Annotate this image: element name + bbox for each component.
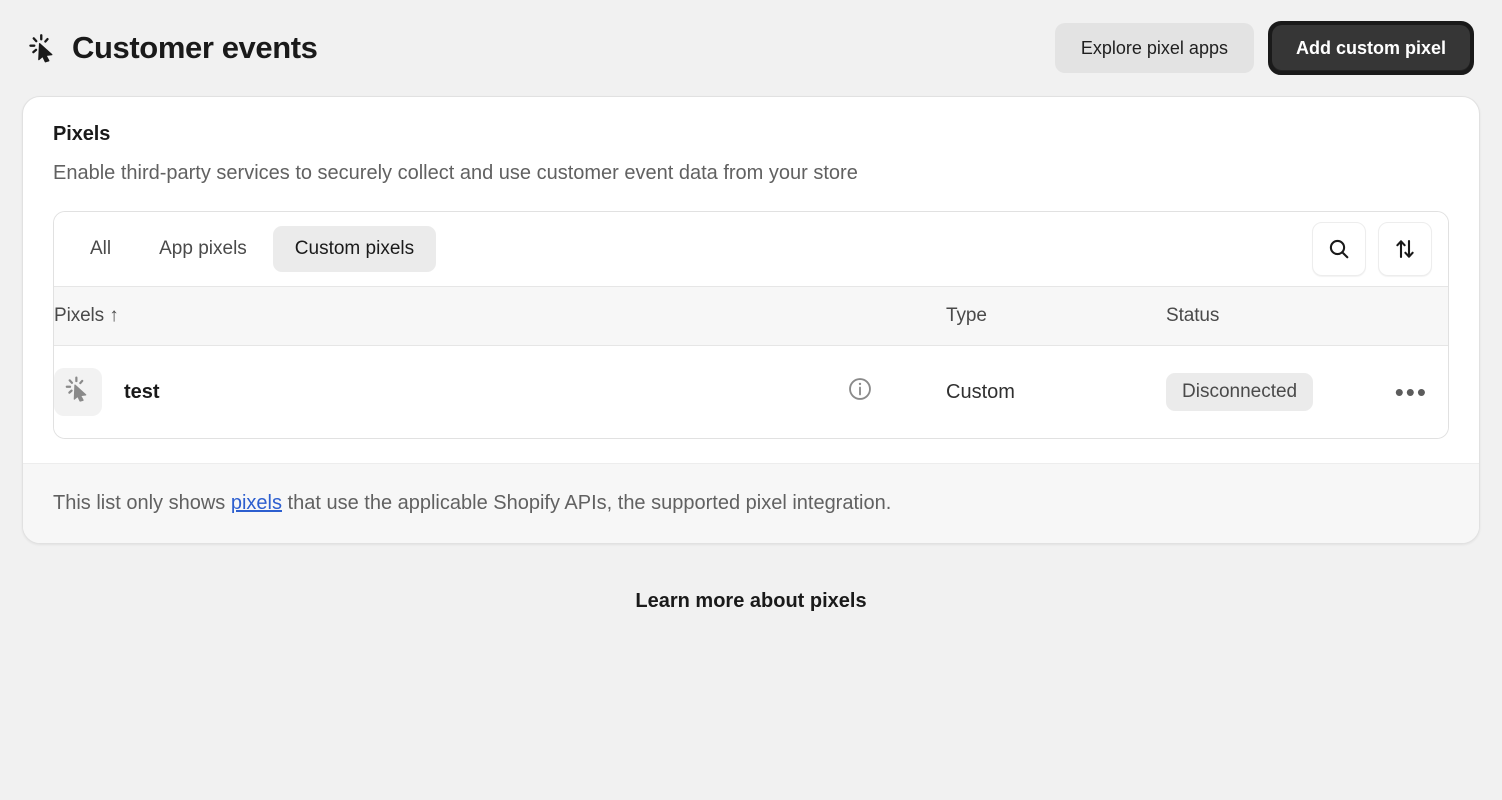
column-header-actions [1338,287,1448,346]
search-button[interactable] [1312,222,1366,276]
cursor-click-icon [64,375,92,409]
pixel-name-label: test [124,381,160,404]
row-actions-menu-button[interactable]: ••• [1395,379,1448,405]
tab-app-pixels[interactable]: App pixels [137,226,269,272]
pixels-toolbar: All App pixels Custom pixels [54,212,1448,286]
table-header-row: Pixels ↑ Type Status [54,287,1448,346]
page-header: Customer events Explore pixel apps Add c… [22,0,1480,96]
customer-events-page: Customer events Explore pixel apps Add c… [0,0,1502,800]
column-header-pixels[interactable]: Pixels ↑ [54,287,774,346]
column-header-pixels-label: Pixels [54,305,104,326]
column-header-info-spacer [774,287,946,346]
sort-ascending-icon: ↑ [109,305,118,326]
pixels-section-subtitle: Enable third-party services to securely … [53,160,1449,187]
pixels-table: Pixels ↑ Type Status [54,286,1448,438]
pixels-link[interactable]: pixels [231,492,282,514]
pixel-name-group: test [54,368,774,416]
pixels-table-body: test [54,346,1448,439]
pixel-thumbnail [54,368,102,416]
add-custom-pixel-button[interactable]: Add custom pixel [1272,25,1470,71]
search-icon [1327,237,1351,261]
column-header-status: Status [1166,287,1338,346]
explore-pixel-apps-button[interactable]: Explore pixel apps [1055,23,1254,73]
cell-actions: ••• [1338,346,1448,439]
cell-pixel-name: test [54,346,774,439]
pixels-section-title: Pixels [53,123,1449,146]
tab-custom-pixels[interactable]: Custom pixels [273,226,436,272]
learn-more-about-pixels-link[interactable]: Learn more about pixels [635,590,866,613]
pixels-card-body: Pixels Enable third-party services to se… [23,97,1479,463]
sort-icon [1393,237,1417,261]
page-title: Customer events [72,31,318,65]
cell-info [774,346,946,439]
cell-type: Custom [946,346,1166,439]
table-row[interactable]: test [54,346,1448,439]
pixels-tabs: All App pixels Custom pixels [68,226,436,272]
info-circle-icon[interactable] [847,385,873,407]
page-title-group: Customer events [28,31,318,65]
footer-text-after: that use the applicable Shopify APIs, th… [282,492,891,514]
header-actions: Explore pixel apps Add custom pixel [1055,21,1474,75]
learn-more-section: Learn more about pixels [22,544,1480,613]
cell-status: Disconnected [1166,346,1338,439]
toolbar-icon-actions [1312,222,1436,276]
pixels-card: Pixels Enable third-party services to se… [22,96,1480,544]
column-header-type: Type [946,287,1166,346]
footer-text-before: This list only shows [53,492,231,514]
sort-button[interactable] [1378,222,1432,276]
cursor-click-icon [28,33,58,63]
pixels-table-container: All App pixels Custom pixels [53,211,1449,439]
add-custom-pixel-button-wrapper: Add custom pixel [1268,21,1474,75]
pixels-table-head: Pixels ↑ Type Status [54,287,1448,346]
status-badge: Disconnected [1166,373,1313,412]
pixels-card-footer: This list only shows pixels that use the… [23,463,1479,543]
tab-all[interactable]: All [68,226,133,272]
